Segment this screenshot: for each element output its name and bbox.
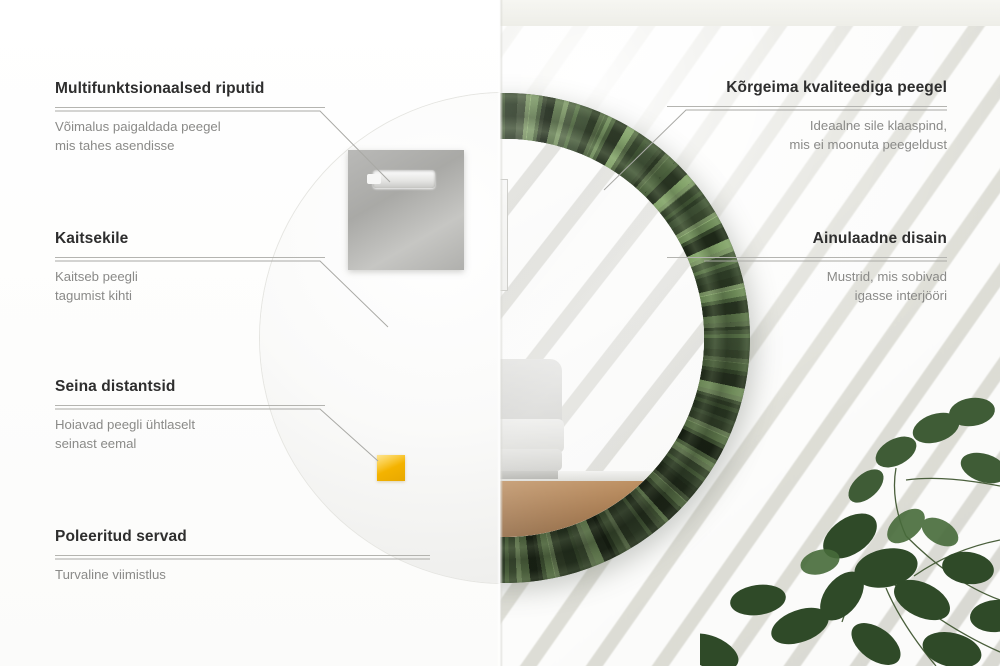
callout-ainulaadne-disain: Ainulaadne disain Mustrid, mis sobivad i… — [667, 230, 947, 305]
callout-poleeritud-servad: Poleeritud servad Turvaline viimistlus — [55, 528, 430, 585]
callout-title: Kõrgeima kvaliteediga peegel — [667, 79, 947, 97]
callout-title: Ainulaadne disain — [667, 230, 947, 248]
callout-desc: Kaitseb peegli tagumist kihti — [55, 268, 325, 305]
callout-title: Multifunktsionaalsed riputid — [55, 80, 325, 98]
keyhole-slot-icon — [373, 170, 435, 188]
callout-rule — [667, 106, 947, 107]
callout-title: Seina distantsid — [55, 378, 325, 396]
panel-split-edge — [497, 0, 503, 666]
wall-spacer — [377, 455, 405, 481]
callout-rule — [55, 555, 430, 556]
callout-title: Poleeritud servad — [55, 528, 430, 546]
callout-desc: Turvaline viimistlus — [55, 566, 430, 585]
foreground-plant — [700, 300, 1000, 666]
callout-korgeima-kvaliteediga-peegel: Kõrgeima kvaliteediga peegel Ideaalne si… — [667, 79, 947, 154]
callout-title: Kaitsekile — [55, 230, 325, 248]
callout-seina-distantsid: Seina distantsid Hoiavad peegli ühtlasel… — [55, 378, 325, 453]
callout-desc: Mustrid, mis sobivad igasse interjööri — [667, 268, 947, 305]
callout-desc: Hoiavad peegli ühtlaselt seinast eemal — [55, 416, 325, 453]
callout-multifunktsionaalsed-riputid: Multifunktsionaalsed riputid Võimalus pa… — [55, 80, 325, 155]
callout-rule — [55, 107, 325, 108]
callout-rule — [55, 257, 325, 258]
callout-kaitsekile: Kaitsekile Kaitseb peegli tagumist kihti — [55, 230, 325, 305]
callout-desc: Võimalus paigaldada peegel mis tahes ase… — [55, 118, 325, 155]
hanger-plate — [348, 150, 464, 270]
callout-rule — [667, 257, 947, 258]
callout-rule — [55, 405, 325, 406]
infographic-canvas: Multifunktsionaalsed riputid Võimalus pa… — [0, 0, 1000, 666]
callout-desc: Ideaalne sile klaaspind, mis ei moonuta … — [667, 117, 947, 154]
